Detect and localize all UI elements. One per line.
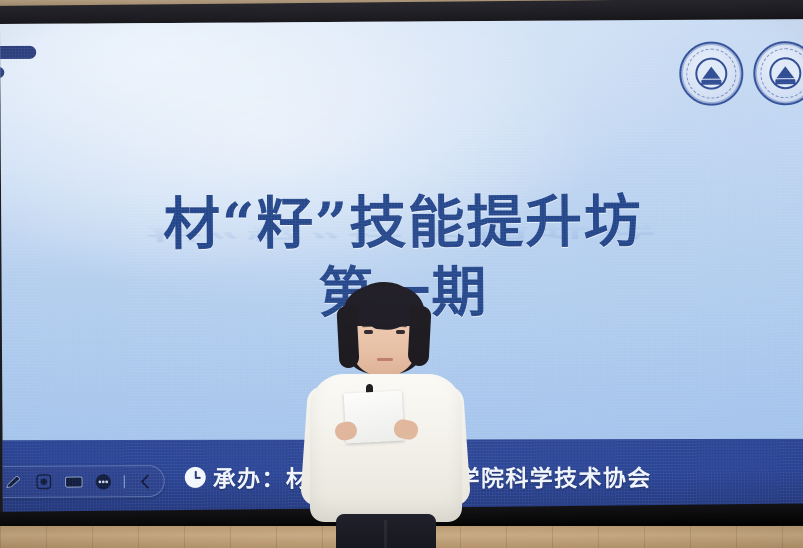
university-logos (679, 41, 803, 106)
presenter-mouth (377, 358, 393, 361)
presenter-eye-left (364, 330, 373, 334)
decor-bar-short (0, 67, 4, 78)
presenter-hair-side-left (336, 306, 359, 369)
more-icon[interactable] (94, 473, 113, 489)
university-emblem-secondary (753, 41, 803, 105)
emblem-mountain-glyph (769, 57, 801, 89)
collapse-icon[interactable] (136, 473, 155, 489)
decor-bar-long (0, 46, 36, 59)
emblem-mountain-glyph (695, 58, 727, 90)
slide-decoration-bars (0, 46, 52, 92)
presenter-legs (336, 514, 436, 548)
slide-title-line-1: 材“籽”技能提升坊 (1, 191, 803, 255)
pen-icon[interactable] (4, 474, 23, 490)
toolbar-divider (124, 475, 125, 488)
presenter-eye-right (396, 330, 405, 334)
presenter-hair-side-right (407, 305, 431, 366)
laser-icon[interactable] (34, 474, 53, 490)
presenter (288, 282, 484, 548)
blackboard-icon[interactable] (64, 474, 83, 490)
university-emblem-primary (679, 41, 743, 105)
clock-icon (185, 466, 206, 487)
screenshot-root: 材“籽”技能提升坊 材“籽”技能提升坊 第一期 承办：材料科学与工程学院科学技术… (0, 0, 803, 548)
presentation-toolbar[interactable] (0, 465, 165, 498)
